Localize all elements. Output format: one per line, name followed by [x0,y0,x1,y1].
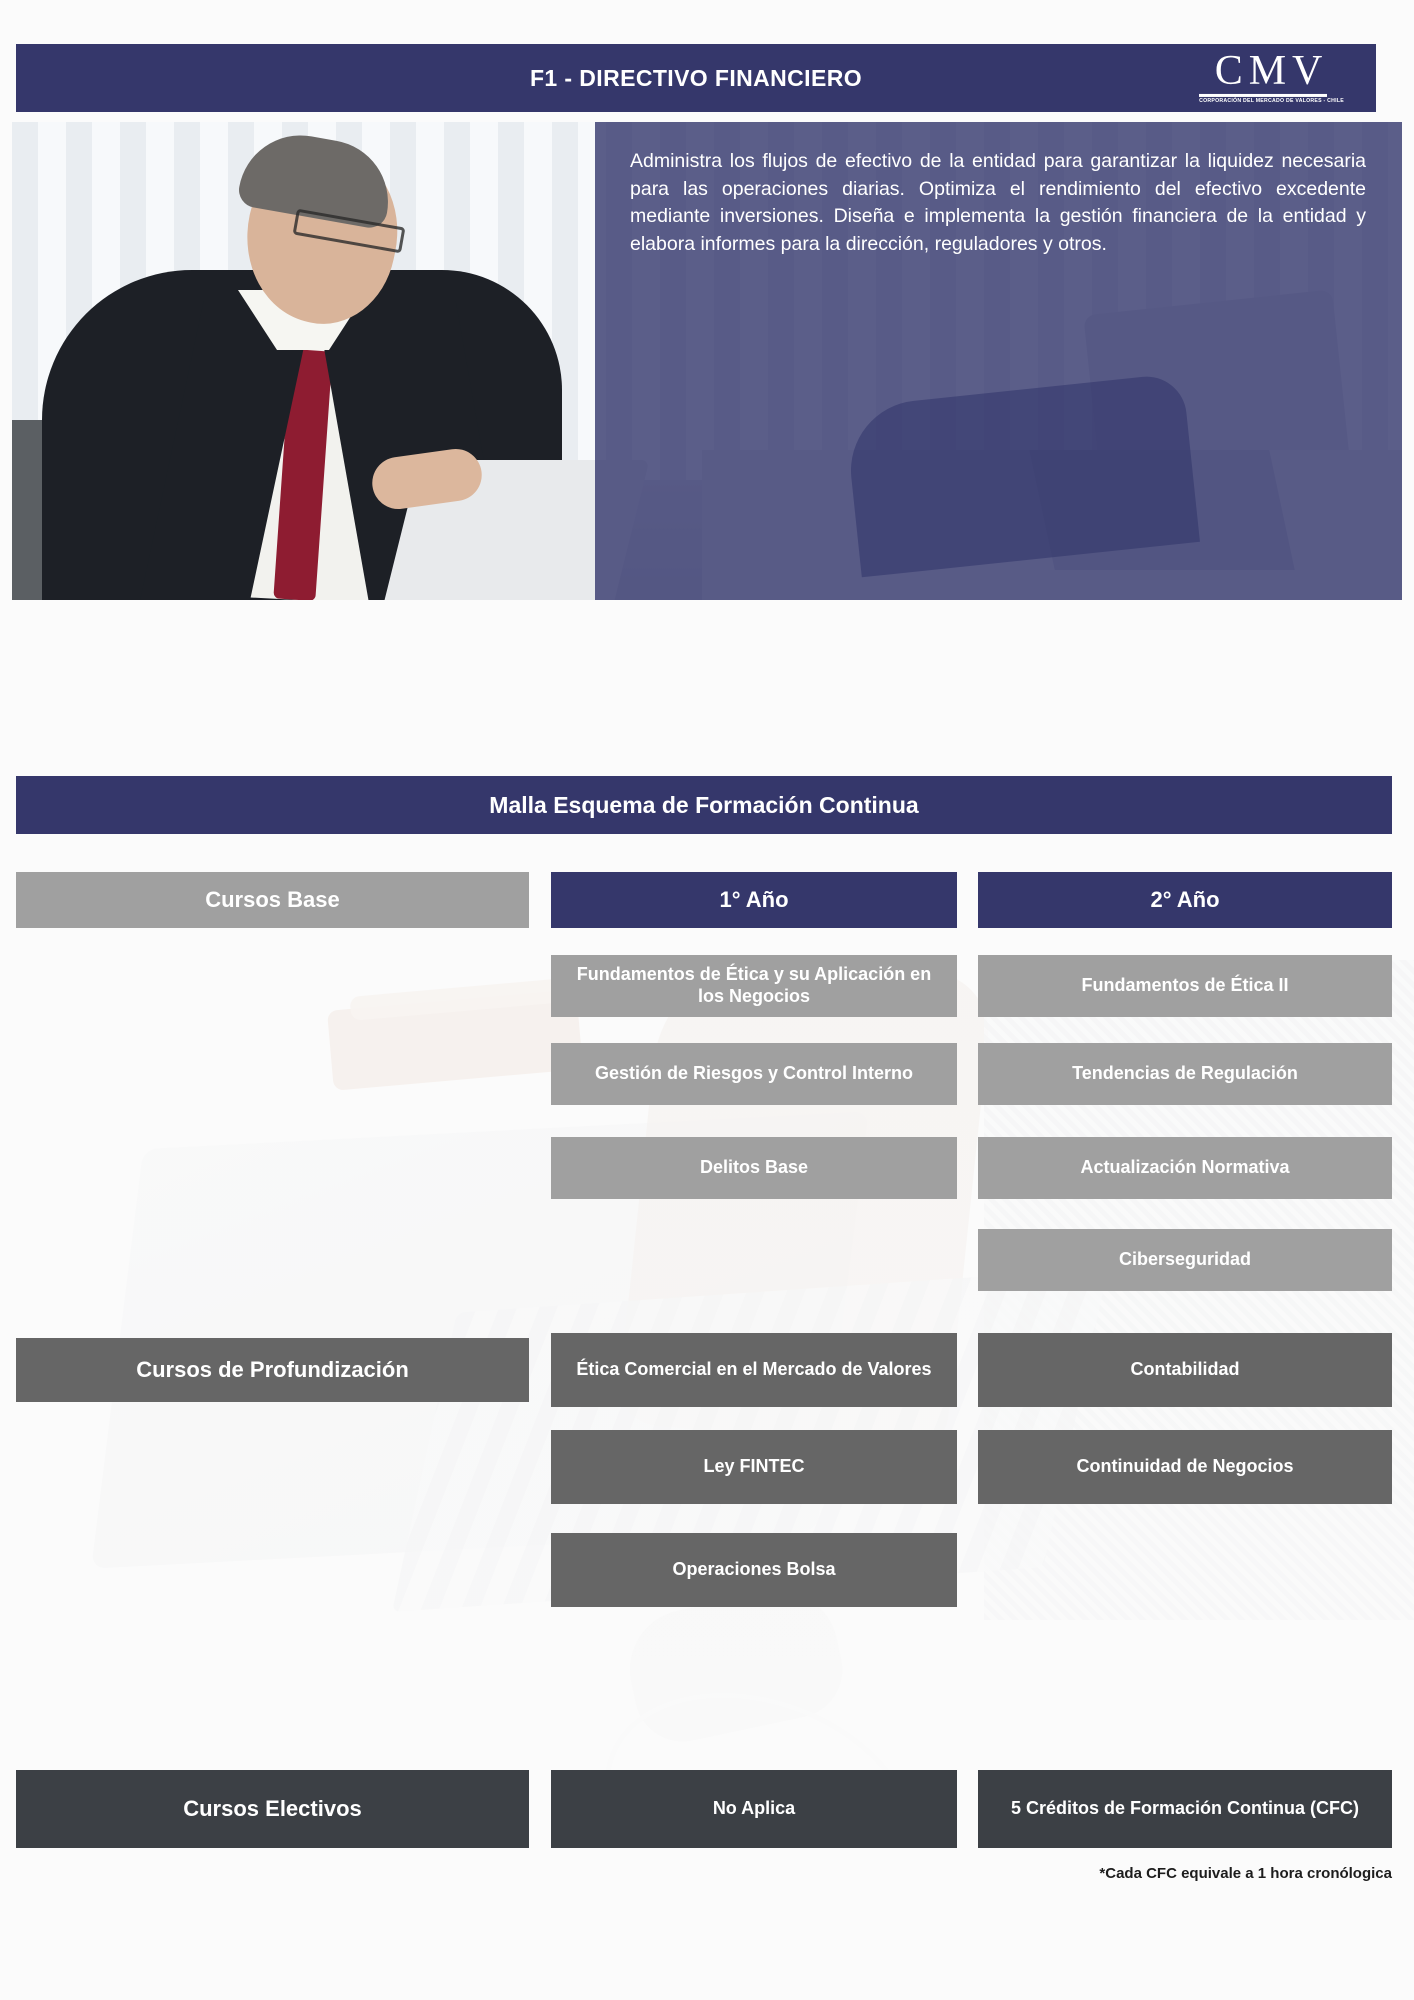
malla-title: Malla Esquema de Formación Continua [489,792,918,819]
course-box: Contabilidad [978,1333,1392,1407]
role-description: Administra los flujos de efectivo de la … [630,148,1366,259]
column-header-year2: 2° Año [978,872,1392,928]
course-box: Ley FINTEC [551,1430,957,1504]
course-box: Ética Comercial en el Mercado de Valores [551,1333,957,1407]
course-box: Gestión de Riesgos y Control Interno [551,1043,957,1105]
column-header-cursos-base: Cursos Base [16,872,529,928]
row-label-profundizacion: Cursos de Profundización [16,1338,529,1402]
course-box: Delitos Base [551,1137,957,1199]
title-bar: F1 - DIRECTIVO FINANCIERO CMV CORPORACIÓ… [16,44,1376,112]
course-box: Actualización Normativa [978,1137,1392,1199]
hero-banner: Administra los flujos de efectivo de la … [12,122,1402,600]
malla-header: Malla Esquema de Formación Continua [16,776,1392,834]
cmv-logo: CMV CORPORACIÓN DEL MERCADO DE VALORES -… [1199,52,1344,104]
cfc-footnote: *Cada CFC equivale a 1 hora cronólogica [978,1865,1392,1882]
logo-subtitle: CORPORACIÓN DEL MERCADO DE VALORES - CHI… [1199,99,1344,104]
logo-wordmark: CMV [1199,52,1344,92]
page-title: F1 - DIRECTIVO FINANCIERO [530,65,862,92]
course-box: Tendencias de Regulación [978,1043,1392,1105]
row-label-electivos: Cursos Electivos [16,1770,529,1848]
course-box: Continuidad de Negocios [978,1430,1392,1504]
course-box: Fundamentos de Ética y su Aplicación en … [551,955,957,1017]
course-box: Operaciones Bolsa [551,1533,957,1607]
electivos-year2: 5 Créditos de Formación Continua (CFC) [978,1770,1392,1848]
businessman-photo [42,130,562,600]
logo-divider [1199,94,1327,97]
electivos-year1: No Aplica [551,1770,957,1848]
course-box: Fundamentos de Ética II [978,955,1392,1017]
course-box: Ciberseguridad [978,1229,1392,1291]
column-header-year1: 1° Año [551,872,957,928]
page-root: F1 - DIRECTIVO FINANCIERO CMV CORPORACIÓ… [0,0,1414,2000]
